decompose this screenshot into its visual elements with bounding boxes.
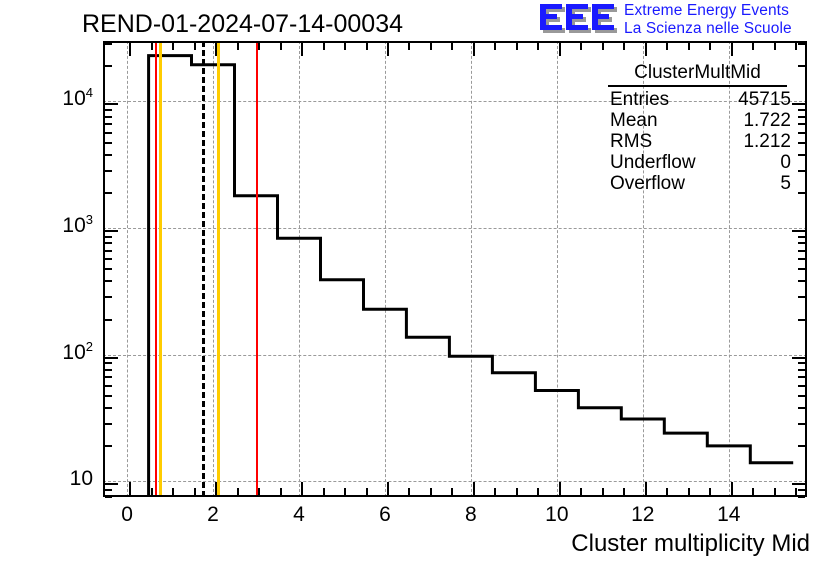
x-tick-minor-top (366, 43, 368, 50)
y-tick-minor-right (798, 142, 805, 144)
x-tick-minor (237, 488, 239, 495)
x-tick-minor-top (344, 43, 346, 50)
y-tick-minor-right (798, 407, 805, 409)
x-tick-minor (323, 488, 325, 495)
x-tick-major (731, 482, 733, 495)
y-tick-major-right (792, 483, 805, 485)
y-tick-minor (105, 369, 112, 371)
root-canvas: REND-01-2024-07-14-00034 (0, 0, 836, 572)
x-tick-minor-top (580, 43, 582, 50)
y-tick-minor (105, 423, 112, 425)
y-tick-major (105, 230, 118, 232)
x-tick-minor (451, 488, 453, 495)
y-tick-minor-right (798, 395, 805, 397)
y-axis-tick-label: 102 (0, 341, 93, 365)
y-tick-minor (105, 170, 112, 172)
x-tick-major (129, 482, 131, 495)
stats-row: Underflow0 (600, 152, 795, 173)
x-tick-minor (280, 488, 282, 495)
x-tick-major (387, 482, 389, 495)
y-tick-minor (105, 132, 112, 134)
y-axis-tick-label: 10 (0, 467, 93, 491)
y-tick-minor (105, 496, 112, 498)
x-tick-major-top (301, 43, 303, 56)
y-tick-minor (105, 376, 112, 378)
x-tick-minor-top (258, 43, 260, 50)
y-tick-minor-right (798, 319, 805, 321)
x-tick-major (645, 482, 647, 495)
x-tick-minor (516, 488, 518, 495)
y-tick-minor-right (798, 496, 805, 498)
x-tick-minor-top (451, 43, 453, 50)
x-tick-minor (602, 488, 604, 495)
x-tick-minor-top (408, 43, 410, 50)
x-tick-major (301, 482, 303, 495)
stats-row-value: 0 (780, 152, 791, 173)
y-tick-minor-right (798, 43, 805, 45)
x-tick-major-top (387, 43, 389, 56)
x-tick-minor-top (516, 43, 518, 50)
x-tick-minor (408, 488, 410, 495)
y-tick-minor (105, 236, 112, 238)
y-tick-minor-right (798, 132, 805, 134)
y-tick-major-right (792, 357, 805, 359)
stats-row: Mean1.722 (600, 110, 795, 131)
y-tick-minor-right (798, 362, 805, 364)
y-tick-minor-right (798, 109, 805, 111)
y-tick-major (105, 357, 118, 359)
x-tick-minor-top (709, 43, 711, 50)
y-tick-minor (105, 385, 112, 387)
x-tick-minor-top (323, 43, 325, 50)
y-tick-minor-right (798, 170, 805, 172)
stats-row: Entries45715 (600, 89, 795, 110)
x-tick-minor (752, 488, 754, 495)
y-tick-minor-right (798, 250, 805, 252)
y-tick-minor (105, 280, 112, 282)
y-tick-minor (105, 43, 112, 45)
x-tick-minor (537, 488, 539, 495)
x-tick-minor (494, 488, 496, 495)
y-tick-minor (105, 250, 112, 252)
x-tick-minor (774, 488, 776, 495)
y-tick-minor-right (798, 236, 805, 238)
x-axis-tick-label: 14 (699, 503, 759, 527)
y-tick-minor (105, 142, 112, 144)
x-axis-tick-label: 0 (97, 503, 157, 527)
y-tick-minor-right (798, 385, 805, 387)
x-tick-minor (709, 488, 711, 495)
x-tick-minor-top (752, 43, 754, 50)
stats-box-title: ClusterMultMid (608, 62, 787, 87)
stats-row-key: Underflow (610, 152, 696, 173)
eee-logo: Extreme Energy Events La Scienza nelle S… (538, 2, 834, 40)
x-tick-minor-top (172, 43, 174, 50)
x-tick-minor (688, 488, 690, 495)
x-tick-minor (366, 488, 368, 495)
y-tick-minor (105, 362, 112, 364)
x-axis-tick-label: 12 (613, 503, 673, 527)
y-tick-major-right (792, 230, 805, 232)
y-tick-minor-right (798, 268, 805, 270)
x-tick-major-top (731, 43, 733, 56)
y-tick-minor (105, 319, 112, 321)
y-tick-minor-right (798, 376, 805, 378)
stats-row-key: RMS (610, 131, 652, 152)
x-tick-minor (430, 488, 432, 495)
stats-row-key: Entries (610, 89, 669, 110)
x-axis-tick-label: 6 (355, 503, 415, 527)
x-tick-minor-top (774, 43, 776, 50)
x-tick-minor (666, 488, 668, 495)
stats-row-key: Mean (610, 110, 658, 131)
x-tick-major (473, 482, 475, 495)
y-tick-minor (105, 445, 112, 447)
y-tick-minor-right (798, 489, 805, 491)
x-tick-minor-top (194, 43, 196, 50)
x-tick-minor-top (430, 43, 432, 50)
y-tick-minor (105, 109, 112, 111)
stats-row-value: 45715 (738, 89, 791, 110)
y-tick-minor-right (798, 423, 805, 425)
x-tick-major-top (473, 43, 475, 56)
y-tick-minor-right (798, 280, 805, 282)
x-tick-minor-top (602, 43, 604, 50)
eee-logo-line2: La Scienza nelle Scuole (624, 20, 834, 38)
x-tick-minor-top (237, 43, 239, 50)
x-axis-title: Cluster multiplicity Mid (571, 530, 810, 558)
y-axis-tick-label: 103 (0, 214, 93, 238)
x-tick-minor (194, 488, 196, 495)
y-tick-minor (105, 296, 112, 298)
y-tick-minor (105, 395, 112, 397)
eee-logo-text: Extreme Energy Events La Scienza nelle S… (624, 2, 834, 38)
page-title: REND-01-2024-07-14-00034 (82, 10, 403, 39)
x-tick-minor (258, 488, 260, 495)
x-tick-major (215, 482, 217, 495)
eee-logo-line1: Extreme Energy Events (624, 2, 834, 20)
y-tick-minor (105, 192, 112, 194)
y-tick-minor-right (798, 154, 805, 156)
y-tick-minor-right (798, 123, 805, 125)
stats-row: RMS1.212 (600, 131, 795, 152)
y-tick-minor-right (798, 369, 805, 371)
x-tick-minor (795, 488, 797, 495)
x-tick-minor-top (280, 43, 282, 50)
x-tick-minor (623, 488, 625, 495)
y-tick-major (105, 103, 118, 105)
y-tick-minor (105, 268, 112, 270)
stats-row-key: Overflow (610, 173, 685, 194)
x-tick-major (559, 482, 561, 495)
stats-box-rows: Entries45715Mean1.722RMS1.212Underflow0O… (600, 89, 795, 194)
y-tick-minor-right (798, 445, 805, 447)
x-tick-minor (172, 488, 174, 495)
x-tick-minor-top (537, 43, 539, 50)
eee-letters-icon (538, 3, 618, 37)
x-tick-major-top (129, 43, 131, 56)
x-tick-minor (580, 488, 582, 495)
y-tick-major (105, 483, 118, 485)
x-tick-major-top (215, 43, 217, 56)
y-tick-minor (105, 154, 112, 156)
y-tick-minor (105, 489, 112, 491)
y-tick-minor-right (798, 192, 805, 194)
y-axis-tick-label: 104 (0, 87, 93, 111)
y-tick-minor (105, 242, 112, 244)
x-tick-minor-top (494, 43, 496, 50)
x-tick-minor (344, 488, 346, 495)
y-tick-minor-right (798, 242, 805, 244)
x-tick-minor-top (151, 43, 153, 50)
y-tick-minor-right (798, 65, 805, 67)
x-tick-minor-top (623, 43, 625, 50)
stats-box: ClusterMultMid Entries45715Mean1.722RMS1… (600, 62, 795, 194)
x-axis-tick-label: 10 (527, 503, 587, 527)
y-tick-minor-right (798, 296, 805, 298)
x-tick-minor-top (688, 43, 690, 50)
y-tick-minor-right (798, 116, 805, 118)
x-tick-major-top (559, 43, 561, 56)
stats-row-value: 1.212 (743, 131, 791, 152)
stats-row-value: 1.722 (743, 110, 791, 131)
y-tick-minor (105, 123, 112, 125)
stats-row-value: 5 (780, 173, 791, 194)
stats-row: Overflow5 (600, 173, 795, 194)
y-tick-minor (105, 116, 112, 118)
x-tick-minor (151, 488, 153, 495)
x-tick-major-top (645, 43, 647, 56)
x-tick-minor-top (666, 43, 668, 50)
y-tick-minor (105, 65, 112, 67)
x-tick-minor-top (795, 43, 797, 50)
y-tick-minor (105, 407, 112, 409)
x-axis-tick-label: 4 (269, 503, 329, 527)
x-axis-tick-label: 8 (441, 503, 501, 527)
y-tick-minor-right (798, 258, 805, 260)
x-axis-tick-label: 2 (183, 503, 243, 527)
y-tick-minor (105, 258, 112, 260)
